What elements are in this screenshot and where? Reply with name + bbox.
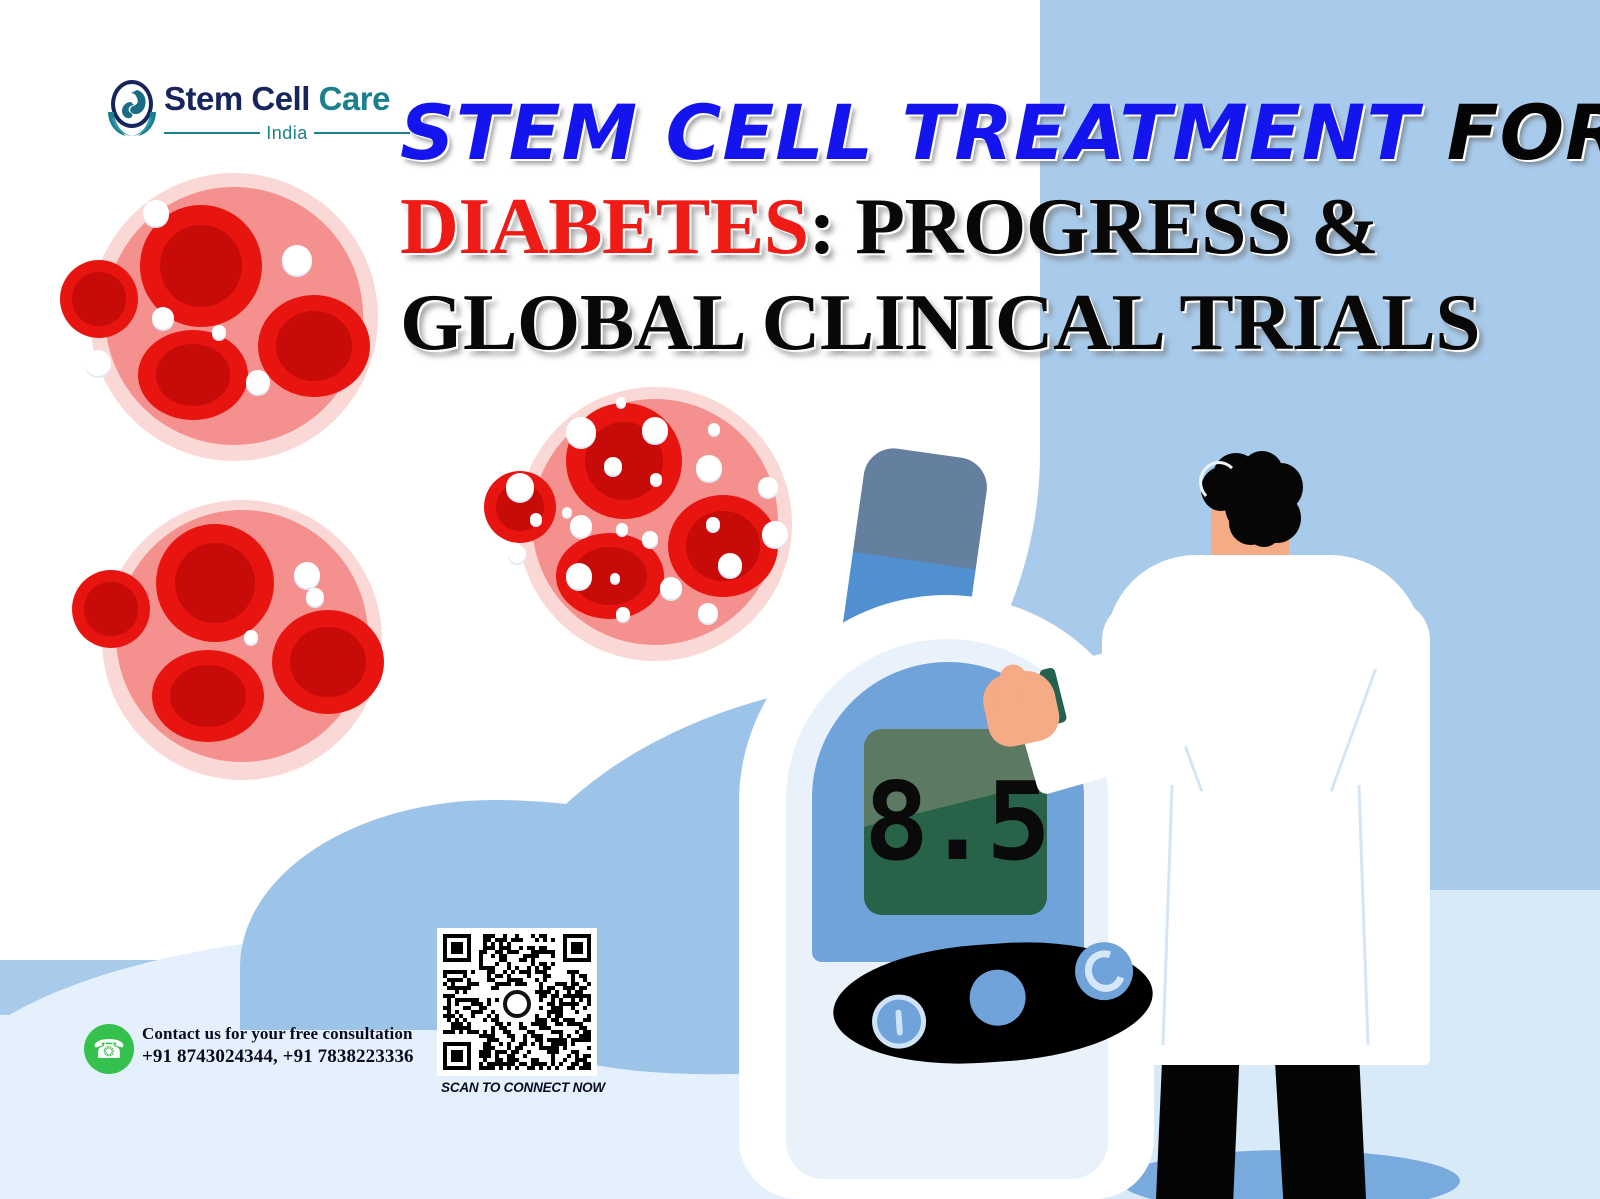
blood-cell-cluster-top-left xyxy=(60,165,390,455)
glucose-bubble xyxy=(143,200,169,226)
headline: STEM CELL TREATMENT FOR DIABETES: PROGRE… xyxy=(400,95,1580,379)
glucose-bubble xyxy=(246,370,270,394)
c-icon xyxy=(1078,943,1132,998)
headline-line-2-rest: : PROGRESS & xyxy=(809,183,1379,271)
headline-line-3-text: GLOBAL CLINICAL TRIALS xyxy=(400,279,1480,367)
red-blood-cell xyxy=(72,570,150,648)
glucose-bubble xyxy=(642,531,658,547)
glucose-bubble xyxy=(294,562,320,588)
headline-line-1-highlight: STEM CELL TREATMENT xyxy=(400,88,1419,177)
power-icon xyxy=(895,1009,903,1035)
glucose-bubble xyxy=(610,573,620,583)
glucose-bubble xyxy=(306,588,324,606)
glucose-bubble xyxy=(762,521,788,547)
glucose-bubble xyxy=(696,455,722,481)
phone-icon: ☎ xyxy=(84,1024,134,1074)
glucose-bubble xyxy=(718,553,742,577)
doctor-hair xyxy=(1195,451,1311,567)
doctor-leg-right xyxy=(1274,1045,1366,1199)
glucose-bubble xyxy=(508,545,526,563)
glucose-reading-value: 8.5 xyxy=(864,729,1047,915)
embryo-in-hands-icon xyxy=(104,78,160,140)
headline-line-1: STEM CELL TREATMENT FOR xyxy=(400,95,1580,187)
glucose-bubble xyxy=(642,417,668,443)
glucose-bubble xyxy=(706,517,720,531)
brand-name-primary: Stem Cell xyxy=(164,80,310,117)
brand-logo[interactable]: Stem Cell Care India xyxy=(104,72,354,150)
glucose-bubble xyxy=(660,577,682,599)
red-blood-cell xyxy=(156,524,274,642)
poster-canvas: Stem Cell Care India STEM CELL TREATMENT… xyxy=(0,0,1600,1199)
glucose-bubble xyxy=(530,513,542,525)
contact-tagline: Contact us for your free consultation xyxy=(142,1024,414,1044)
red-blood-cell xyxy=(138,330,248,420)
doctor-legs xyxy=(1152,1045,1384,1199)
glucose-bubble xyxy=(282,245,312,275)
glucose-bubble xyxy=(604,457,622,475)
brand-wordmark: Stem Cell Care xyxy=(164,80,390,118)
red-blood-cell xyxy=(152,650,264,742)
power-button[interactable] xyxy=(870,993,928,1051)
qr-block[interactable]: SCAN TO CONNECT NOW xyxy=(437,928,607,1103)
contact-text: Contact us for your free consultation +9… xyxy=(142,1024,414,1068)
glucose-bubble xyxy=(616,523,628,535)
headline-line-2: DIABETES: PROGRESS & xyxy=(400,187,1600,283)
glucose-bubble xyxy=(506,473,534,501)
headline-line-1-rest: FOR xyxy=(1419,88,1600,177)
glucose-bubble xyxy=(758,477,778,497)
glucose-bubble xyxy=(244,630,258,644)
glucose-bubble xyxy=(570,515,592,537)
glucose-bubble xyxy=(566,417,596,447)
blood-cell-cluster-center xyxy=(470,385,810,647)
red-blood-cell xyxy=(60,260,138,338)
red-blood-cell xyxy=(272,610,384,714)
doctor-leg-left xyxy=(1156,1045,1240,1199)
phone-badge[interactable]: ☎ xyxy=(84,1024,134,1074)
blood-cell-cluster-bottom-left xyxy=(68,500,420,768)
contact-phone-numbers: +91 8743024344, +91 7838223336 xyxy=(142,1046,414,1068)
glucometer-screen: 8.5 xyxy=(864,729,1047,915)
glucose-bubble xyxy=(616,397,626,407)
red-blood-cell xyxy=(258,295,370,397)
divider-left xyxy=(164,132,260,134)
select-button[interactable] xyxy=(968,968,1028,1028)
brand-name-secondary: Care xyxy=(319,80,390,117)
glucose-bubble xyxy=(152,307,174,329)
qr-caption: SCAN TO CONNECT NOW xyxy=(438,1080,608,1095)
red-blood-cell xyxy=(668,495,778,597)
glucose-bubble xyxy=(708,423,720,435)
brand-subtitle-row: India xyxy=(164,122,410,144)
headline-line-3: GLOBAL CLINICAL TRIALS xyxy=(400,283,1600,379)
qr-code[interactable] xyxy=(437,928,597,1076)
glucose-bubble xyxy=(212,325,226,339)
whatsapp-glyph xyxy=(503,990,531,1018)
divider-right xyxy=(314,132,410,134)
glucose-bubble xyxy=(616,607,630,621)
headline-line-2-highlight: DIABETES xyxy=(400,183,809,271)
glucose-bubble xyxy=(85,350,111,376)
glucose-bubble xyxy=(566,563,592,589)
glucose-bubble xyxy=(562,507,572,517)
glucose-bubble xyxy=(698,603,718,623)
brand-subtitle: India xyxy=(266,123,308,144)
glucose-bubble xyxy=(650,473,662,485)
whatsapp-icon xyxy=(499,986,535,1022)
contact-block[interactable]: ☎ Contact us for your free consultation … xyxy=(84,1018,444,1084)
